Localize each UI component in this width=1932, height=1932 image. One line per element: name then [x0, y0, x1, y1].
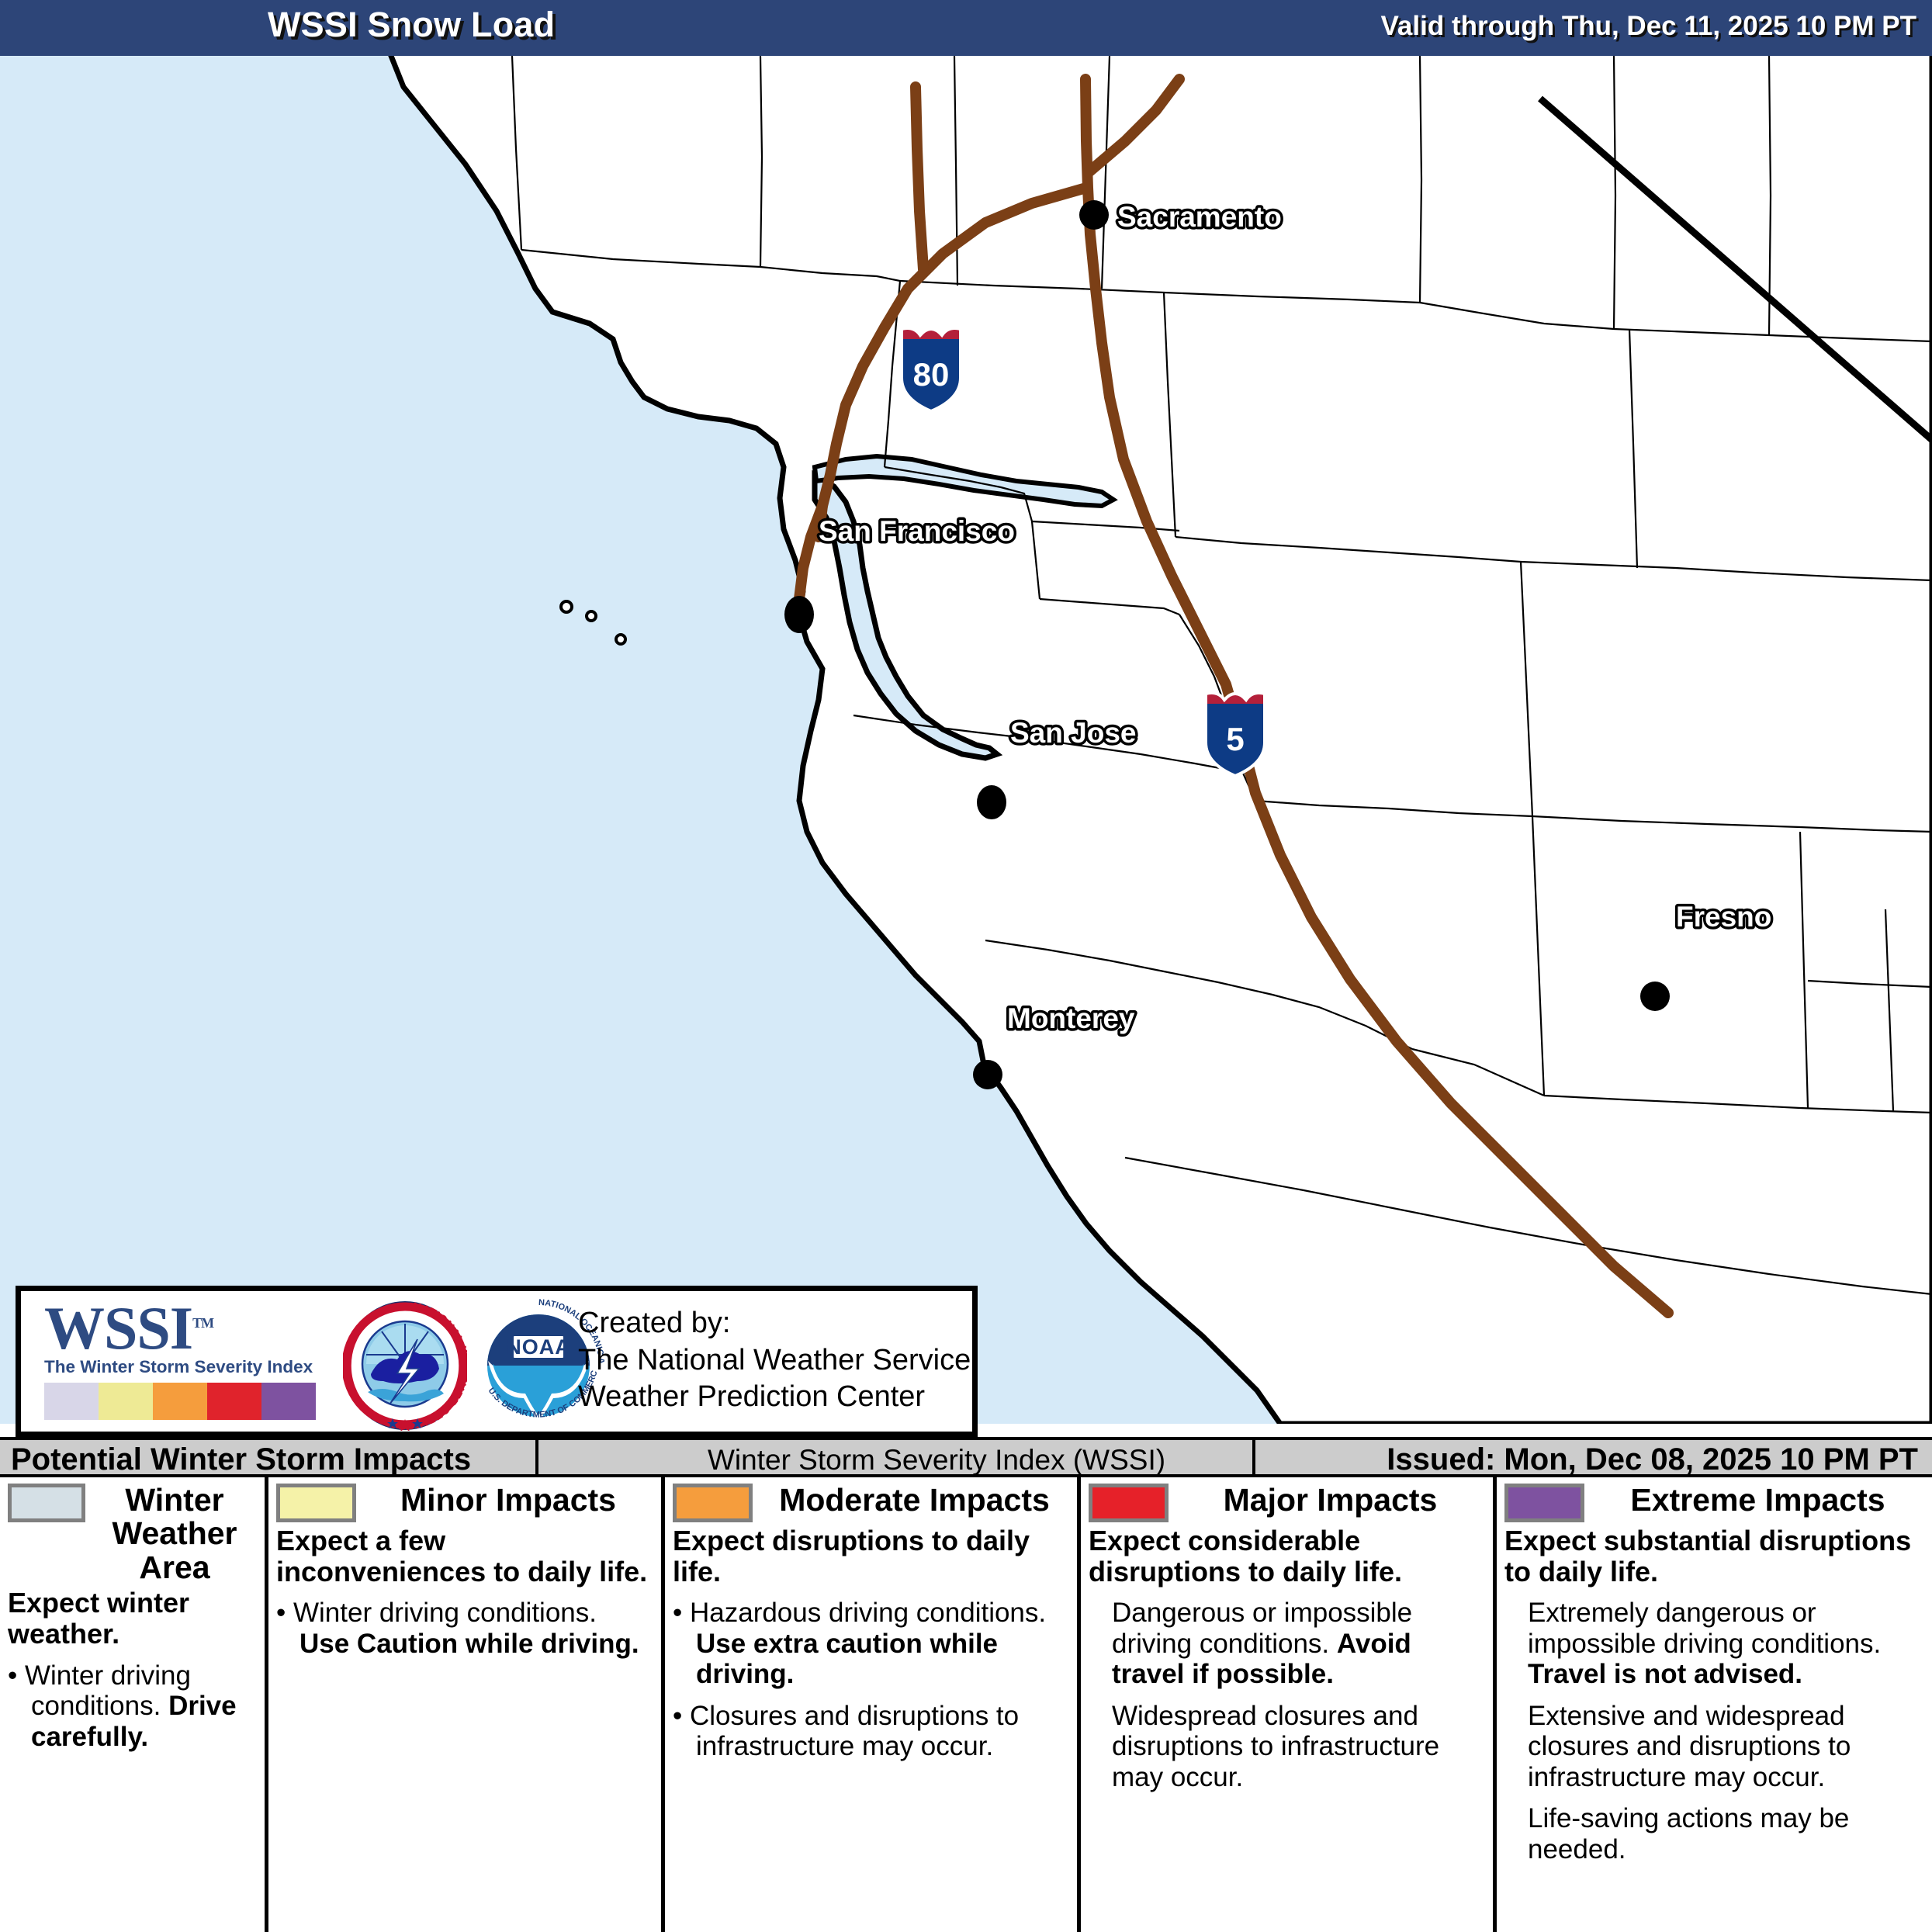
- city-label-fresno: Fresno: [1676, 901, 1771, 933]
- legend-bullets-moderate-impacts: • Hazardous driving conditions. Use extr…: [673, 1598, 1069, 1762]
- legend-bullets-minor-impacts: • Winter driving conditions. Use Caution…: [276, 1598, 653, 1659]
- status-divider-2: [1252, 1440, 1255, 1477]
- colorbar-swatch-moderate: [153, 1383, 207, 1420]
- city-label-san-jose: San Jose: [1010, 717, 1136, 749]
- city-label-san-francisco: San Francisco: [819, 515, 1015, 547]
- city-label-monterey: Monterey: [1007, 1002, 1135, 1034]
- colorbar-swatch-minor: [99, 1383, 153, 1420]
- legend-bullet: Extremely dangerous or impossible drivin…: [1504, 1598, 1924, 1690]
- bullet-plain: Winter driving conditions.: [25, 1660, 191, 1722]
- wssi-subtitle: The Winter Storm Severity Index: [44, 1357, 327, 1377]
- legend-bullets-winter-weather-area: • Winter driving conditions. Drive caref…: [8, 1660, 257, 1753]
- wssi-wordmark: WSSITM: [44, 1300, 327, 1356]
- legend-header: Extreme Impacts: [1504, 1484, 1924, 1522]
- legend-header: Minor Impacts: [276, 1484, 653, 1522]
- bullet-plain: Widespread closures and disruptions to i…: [1112, 1701, 1439, 1792]
- legend-bullet: Life-saving actions may be needed.: [1504, 1803, 1924, 1864]
- legend-bullet: Extensive and widespread closures and di…: [1504, 1701, 1924, 1793]
- status-bar: Potential Winter Storm Impacts Winter St…: [0, 1437, 1932, 1477]
- shield-i5: 5: [1206, 693, 1265, 776]
- legend-bullet: • Hazardous driving conditions. Use extr…: [673, 1598, 1069, 1690]
- legend-bullet: • Winter driving conditions. Drive caref…: [8, 1660, 257, 1753]
- credit-line-3: Weather Prediction Center: [578, 1379, 971, 1416]
- legend-summary-minor-impacts: Expect a few inconveniences to daily lif…: [276, 1525, 653, 1587]
- colorbar-swatch-winter-weather: [44, 1383, 99, 1420]
- wssi-severity-colorbar: [44, 1383, 316, 1420]
- offshore-island: [587, 611, 596, 621]
- legend-header: Major Impacts: [1089, 1484, 1485, 1522]
- nws-seal-icon: NATIONAL WEATHER SERVICE: [343, 1300, 467, 1431]
- svg-text:NOAA: NOAA: [506, 1335, 571, 1359]
- city-dot-san-francisco: [784, 596, 814, 633]
- status-divider-1: [535, 1440, 538, 1477]
- offshore-island: [561, 601, 572, 612]
- legend-header: Winter Weather Area: [8, 1484, 257, 1584]
- legend-swatch-winter-weather-area: [8, 1484, 85, 1522]
- legend-summary-extreme-impacts: Expect substantial disruptions to daily …: [1504, 1525, 1924, 1587]
- credit-line-1: Created by:: [578, 1305, 971, 1342]
- bullet-plain: Extremely dangerous or impossible drivin…: [1528, 1598, 1881, 1659]
- city-dot-fresno: [1640, 982, 1670, 1011]
- legend-title-major-impacts: Major Impacts: [1175, 1484, 1485, 1517]
- legend-bullet: • Winter driving conditions. Use Caution…: [276, 1598, 653, 1659]
- page-title: WSSI Snow Load: [268, 5, 555, 45]
- bullet-bold: Use extra caution while driving.: [696, 1629, 998, 1690]
- legend-title-winter-weather-area: Winter Weather Area: [92, 1484, 257, 1584]
- legend-bullet: Dangerous or impossible driving conditio…: [1089, 1598, 1485, 1690]
- legend-bullets-major-impacts: Dangerous or impossible driving conditio…: [1089, 1598, 1485, 1792]
- legend-column-extreme-impacts[interactable]: Extreme Impacts Expect substantial disru…: [1497, 1477, 1932, 1932]
- legend-column-minor-impacts[interactable]: Minor Impacts Expect a few inconvenience…: [268, 1477, 665, 1932]
- legend-bullets-extreme-impacts: Extremely dangerous or impossible drivin…: [1504, 1598, 1924, 1864]
- bullet-plain: Winter driving conditions.: [293, 1598, 597, 1628]
- status-left-label: Potential Winter Storm Impacts: [11, 1442, 471, 1477]
- city-dot-monterey: [973, 1060, 1002, 1089]
- legend-summary-moderate-impacts: Expect disruptions to daily life.: [673, 1525, 1069, 1587]
- page-header: WSSI Snow Load Valid through Thu, Dec 11…: [0, 0, 1932, 56]
- legend-title-extreme-impacts: Extreme Impacts: [1591, 1484, 1924, 1517]
- legend-column-major-impacts[interactable]: Major Impacts Expect considerable disrup…: [1081, 1477, 1497, 1932]
- credit-line-2: The National Weather Service: [578, 1342, 971, 1380]
- city-dot-sacramento: [1079, 200, 1109, 230]
- wssi-logo: WSSITM The Winter Storm Severity Index: [44, 1300, 327, 1420]
- legend-swatch-moderate-impacts: [673, 1484, 753, 1522]
- status-middle-label: Winter Storm Severity Index (WSSI): [708, 1444, 1165, 1477]
- legend-column-winter-weather-area[interactable]: Winter Weather Area Expect winter weathe…: [0, 1477, 268, 1932]
- legend-header: Moderate Impacts: [673, 1484, 1069, 1522]
- wssi-snow-load-page: WSSI Snow Load Valid through Thu, Dec 11…: [0, 0, 1932, 1932]
- legend-column-moderate-impacts[interactable]: Moderate Impacts Expect disruptions to d…: [665, 1477, 1081, 1932]
- city-label-sacramento: Sacramento: [1117, 201, 1282, 233]
- legend-bullet: • Closures and disruptions to infrastruc…: [673, 1701, 1069, 1762]
- legend-title-minor-impacts: Minor Impacts: [363, 1484, 653, 1517]
- map-canvas[interactable]: 80 5 Sacramento San Francisco San Jose F…: [0, 56, 1932, 1424]
- valid-through-label: Valid through Thu, Dec 11, 2025 10 PM PT: [1381, 11, 1916, 42]
- impact-legend: Winter Weather Area Expect winter weathe…: [0, 1477, 1932, 1932]
- bullet-plain: Life-saving actions may be needed.: [1528, 1803, 1849, 1864]
- svg-text:5: 5: [1226, 721, 1244, 757]
- colorbar-swatch-extreme: [261, 1383, 316, 1420]
- offshore-island: [616, 635, 625, 644]
- svg-text:80: 80: [913, 356, 950, 393]
- legend-title-moderate-impacts: Moderate Impacts: [760, 1484, 1069, 1517]
- legend-summary-major-impacts: Expect considerable disruptions to daily…: [1089, 1525, 1485, 1587]
- wssi-trademark-icon: TM: [192, 1315, 213, 1331]
- legend-swatch-major-impacts: [1089, 1484, 1169, 1522]
- credit-box: WSSITM The Winter Storm Severity Index: [16, 1286, 978, 1437]
- shield-i80: 80: [902, 328, 961, 411]
- bullet-plain: Hazardous driving conditions.: [690, 1598, 1046, 1628]
- colorbar-swatch-major: [207, 1383, 261, 1420]
- credit-text-block: Created by: The National Weather Service…: [578, 1305, 971, 1416]
- city-dot-san-jose: [977, 785, 1006, 819]
- legend-summary-winter-weather-area: Expect winter weather.: [8, 1587, 257, 1649]
- legend-bullet: Widespread closures and disruptions to i…: [1089, 1701, 1485, 1793]
- bullet-plain: Closures and disruptions to infrastructu…: [690, 1701, 1019, 1762]
- bullet-bold: Use Caution while driving.: [299, 1629, 639, 1659]
- status-right-label: Issued: Mon, Dec 08, 2025 10 PM PT: [1387, 1442, 1918, 1477]
- legend-swatch-minor-impacts: [276, 1484, 356, 1522]
- bullet-plain: Extensive and widespread closures and di…: [1528, 1701, 1851, 1792]
- bullet-bold: Travel is not advised.: [1528, 1659, 1802, 1689]
- legend-swatch-extreme-impacts: [1504, 1484, 1584, 1522]
